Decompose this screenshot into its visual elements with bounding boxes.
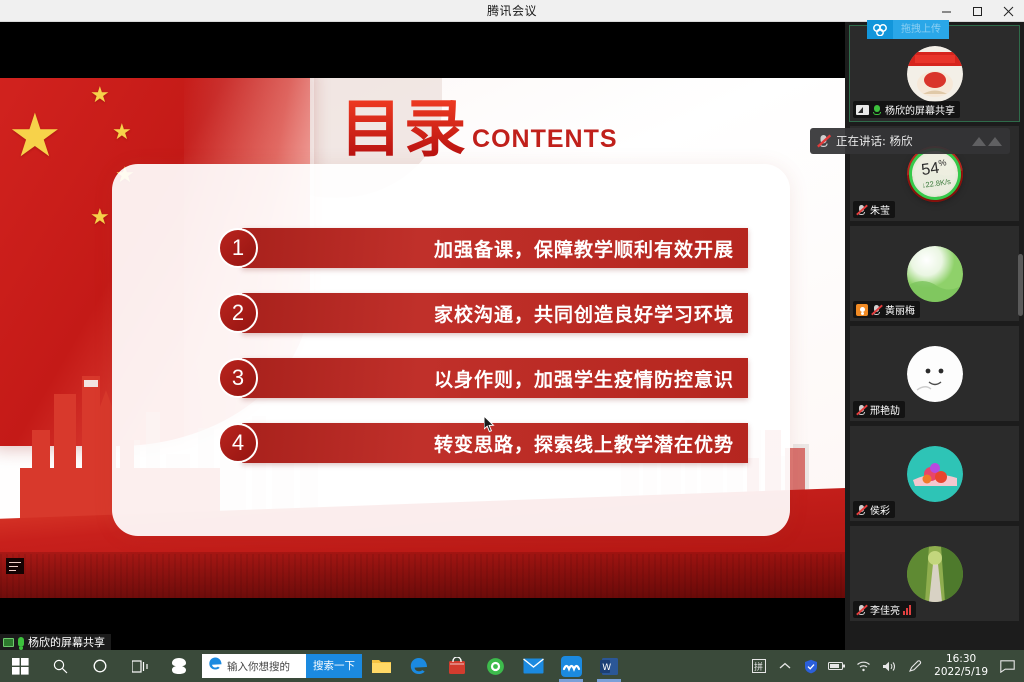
- participant-label: 黄丽梅: [853, 301, 920, 318]
- system-tray: 拼 16:30 2022/5/19: [746, 650, 1024, 682]
- host-badge-icon: [856, 304, 868, 316]
- participant-name: 朱莹: [870, 202, 890, 217]
- share-indicator-label: 杨欣的屏幕共享: [28, 634, 105, 650]
- signal-bars-icon: [903, 605, 911, 615]
- agenda-number: 2: [218, 293, 258, 333]
- screen-share-indicator: 杨欣的屏幕共享: [0, 634, 845, 650]
- avatar: [907, 546, 963, 602]
- microsoft-store-icon[interactable]: [438, 650, 476, 682]
- participant-tile[interactable]: 杨欣的屏幕共享: [850, 26, 1019, 121]
- microphone-muted-icon: [856, 204, 867, 216]
- word-icon[interactable]: W: [590, 650, 628, 682]
- speaking-toast: 正在讲话: 杨欣: [810, 128, 1010, 154]
- drag-upload-label: 拖拽上传: [893, 20, 949, 39]
- participant-name: 侯彩: [870, 502, 890, 517]
- audio-wave-icon: [972, 137, 1002, 146]
- agenda-item: 1 加强备课，保障教学顺利有效开展: [218, 228, 748, 268]
- close-button[interactable]: [993, 0, 1024, 22]
- edge-browser-icon[interactable]: [400, 650, 438, 682]
- microphone-muted-icon: [856, 404, 867, 416]
- screen-share-icon: [3, 638, 14, 647]
- speaking-toast-text: 正在讲话: 杨欣: [836, 133, 913, 149]
- microphone-muted-icon: [871, 304, 882, 316]
- avatar: [907, 346, 963, 402]
- avatar: [907, 246, 963, 302]
- agenda-list: 1 加强备课，保障教学顺利有效开展 2 家校沟通，共同创造良好学习环境 3 以身…: [218, 228, 748, 488]
- microphone-muted-icon: [856, 504, 867, 516]
- download-percent: 54%: [920, 158, 948, 179]
- clock-date: 2022/5/19: [934, 666, 988, 679]
- ime-chinese-icon[interactable]: 拼: [746, 650, 772, 682]
- flag-star-4: ★: [90, 206, 110, 228]
- agenda-text: 家校沟通，共同创造良好学习环境: [258, 300, 748, 327]
- svg-text:拼: 拼: [754, 661, 763, 673]
- tencent-meeting-icon[interactable]: [552, 650, 590, 682]
- participant-label: 侯彩: [853, 501, 895, 518]
- shared-screen-area[interactable]: ★ ★ ★ ★ ★: [0, 22, 845, 634]
- chevron-up-icon[interactable]: [772, 650, 798, 682]
- agenda-number: 1: [218, 228, 258, 268]
- minimize-button[interactable]: [931, 0, 962, 22]
- maximize-button[interactable]: [962, 0, 993, 22]
- cloud-upload-logo-icon: [867, 20, 893, 39]
- shield-icon[interactable]: [798, 650, 824, 682]
- slide-title: 目录 CONTENTS: [340, 98, 618, 160]
- participant-tile[interactable]: 李佳亮: [850, 526, 1019, 621]
- participant-tile[interactable]: 黄丽梅: [850, 226, 1019, 321]
- task-view-icon[interactable]: [120, 650, 160, 682]
- participant-label: 邢艳劼: [853, 401, 905, 418]
- window-controls: [931, 0, 1024, 22]
- windows-start-icon[interactable]: [0, 650, 40, 682]
- participant-label: 朱莹: [853, 201, 895, 218]
- agenda-text: 加强备课，保障教学顺利有效开展: [258, 235, 748, 262]
- microphone-icon: [817, 134, 830, 148]
- agenda-item: 3 以身作则，加强学生疫情防控意识: [218, 358, 748, 398]
- wifi-icon[interactable]: [850, 650, 876, 682]
- edge-icon: [208, 656, 223, 676]
- participant-name: 李佳亮: [870, 602, 900, 617]
- search-placeholder: 输入你想搜的: [227, 659, 306, 674]
- presentation-slide: ★ ★ ★ ★ ★: [0, 78, 845, 598]
- clock[interactable]: 16:30 2022/5/19: [928, 650, 994, 682]
- participant-label: 李佳亮: [853, 601, 916, 618]
- drag-upload-badge[interactable]: 拖拽上传: [867, 20, 949, 39]
- speaker-icon[interactable]: [876, 650, 902, 682]
- participant-label: 杨欣的屏幕共享: [853, 101, 960, 118]
- 360-browser-icon[interactable]: [476, 650, 514, 682]
- agenda-text: 以身作则，加强学生疫情防控意识: [258, 365, 748, 392]
- notification-icon[interactable]: [994, 650, 1020, 682]
- svg-text:W: W: [602, 663, 611, 673]
- tencent-meeting-window: 腾讯会议 ★ ★ ★ ★ ★: [0, 0, 1024, 682]
- flag-star-2: ★: [112, 121, 132, 143]
- avatar: [907, 446, 963, 502]
- participant-name: 黄丽梅: [885, 302, 915, 317]
- file-explorer-icon[interactable]: [362, 650, 400, 682]
- cortana-circle-icon[interactable]: [80, 650, 120, 682]
- clock-time: 16:30: [946, 653, 976, 666]
- hamburger-menu-icon[interactable]: [6, 558, 24, 574]
- screen-share-icon: [856, 105, 869, 115]
- flag-star-large: ★: [8, 106, 62, 166]
- slide-title-en: CONTENTS: [472, 125, 618, 160]
- participant-video-panel[interactable]: 杨欣的屏幕共享 54% ↓22.8K/s 朱莹: [845, 22, 1024, 650]
- microphone-on-icon: [872, 104, 882, 116]
- microphone-on-icon: [18, 637, 24, 647]
- search-icon[interactable]: [40, 650, 80, 682]
- sogou-input-icon[interactable]: [160, 650, 198, 682]
- search-button[interactable]: 搜索一下: [306, 654, 362, 678]
- title-bar: 腾讯会议: [0, 0, 1024, 22]
- window-title: 腾讯会议: [487, 2, 537, 19]
- agenda-item: 4 转变思路，探索线上教学潜在优势: [218, 423, 748, 463]
- participant-name: 邢艳劼: [870, 402, 900, 417]
- participant-tile[interactable]: 侯彩: [850, 426, 1019, 521]
- battery-icon[interactable]: [824, 650, 850, 682]
- agenda-number: 4: [218, 423, 258, 463]
- slide-ground-shadow: [0, 552, 845, 598]
- panel-scrollbar[interactable]: [1018, 254, 1023, 316]
- microphone-muted-icon: [856, 604, 867, 616]
- agenda-number: 3: [218, 358, 258, 398]
- mail-icon[interactable]: [514, 650, 552, 682]
- agenda-text: 转变思路，探索线上教学潜在优势: [258, 430, 748, 457]
- flag-star-1: ★: [90, 84, 110, 106]
- participant-tile[interactable]: 邢艳劼: [850, 326, 1019, 421]
- slide-title-cn: 目录: [340, 98, 468, 160]
- pen-icon[interactable]: [902, 650, 928, 682]
- windows-taskbar: 输入你想搜的 搜索一下 W 拼: [0, 650, 1024, 682]
- share-indicator-pill: 杨欣的屏幕共享: [0, 634, 111, 650]
- agenda-item: 2 家校沟通，共同创造良好学习环境: [218, 293, 748, 333]
- avatar: [907, 46, 963, 102]
- participant-name: 杨欣的屏幕共享: [885, 102, 955, 117]
- search-input[interactable]: 输入你想搜的 搜索一下: [202, 654, 362, 678]
